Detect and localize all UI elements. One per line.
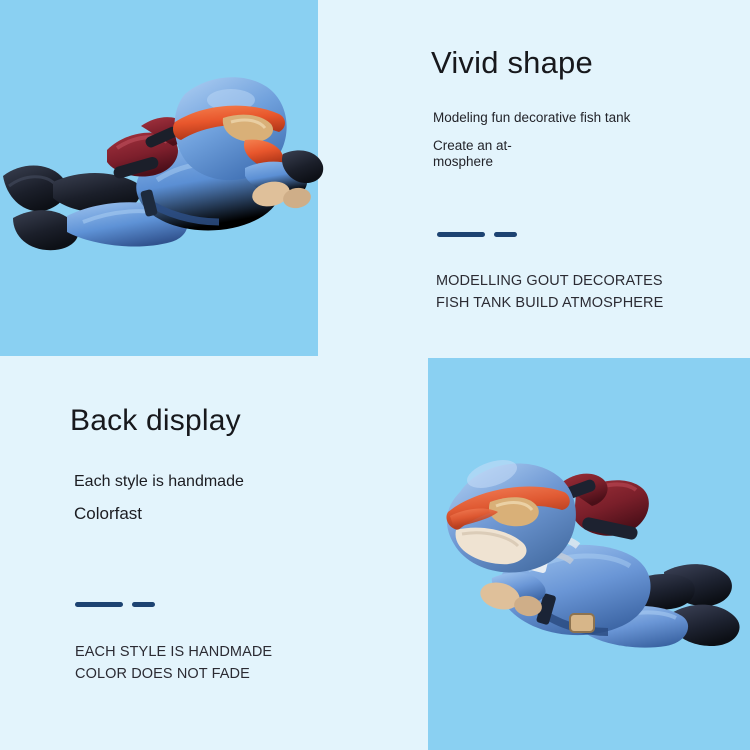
caption-line-2: FISH TANK BUILD ATMOSPHERE [436, 293, 663, 315]
divider-bar-long [437, 232, 485, 237]
subtitle-line-1: Each style is handmade [74, 473, 244, 492]
divider [437, 232, 517, 237]
subtitle-line-2: Create an at-mosphere [433, 138, 537, 170]
divider-bar-long [75, 602, 123, 607]
caption-line-1: MODELLING GOUT DECORATES [436, 271, 663, 293]
divider-bar-short [494, 232, 517, 237]
subtitle-line-1: Modeling fun decorative fish tank [433, 110, 630, 126]
section-back-display: Back display Each style is handmade Colo… [70, 404, 390, 437]
divider-bar-short [132, 602, 155, 607]
marketing-collage: Vivid shape Modeling fun decorative fish… [0, 0, 750, 750]
scuba-diver-figurine-back [432, 438, 750, 668]
caption-line-1: EACH STYLE IS HANDMADE [75, 642, 272, 664]
page-title: Vivid shape [431, 46, 731, 80]
subtitle-line-2: Colorfast [74, 504, 142, 524]
scuba-diver-figurine-front [0, 58, 325, 273]
caption-line-2: COLOR DOES NOT FADE [75, 664, 272, 686]
caption-block: MODELLING GOUT DECORATES FISH TANK BUILD… [436, 271, 663, 315]
caption-block: EACH STYLE IS HANDMADE COLOR DOES NOT FA… [75, 642, 272, 686]
divider [75, 602, 155, 607]
section-title: Back display [70, 404, 390, 437]
section-vivid-shape: Vivid shape Modeling fun decorative fish… [431, 46, 731, 80]
